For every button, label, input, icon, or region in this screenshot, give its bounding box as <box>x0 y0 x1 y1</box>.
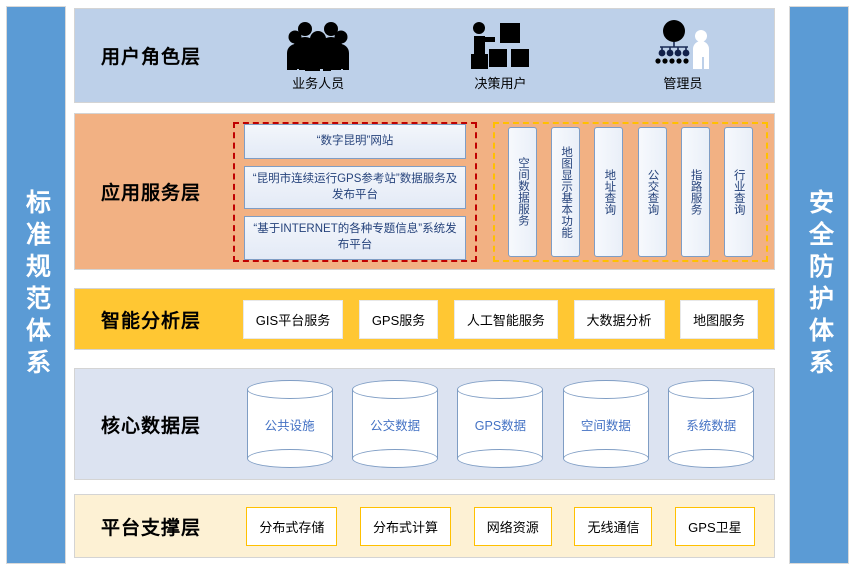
people-group-icon <box>287 19 349 71</box>
org-chart-person-icon <box>652 19 714 71</box>
platform-item[interactable]: 网络资源 <box>474 507 552 546</box>
platform-box[interactable]: “基于INTERNET的各种专题信息”系统发布平台 <box>244 216 466 259</box>
layer-user-role-body: 业务人员 决策用户 <box>227 9 774 102</box>
right-sidebar-security: 安全防护体系 <box>789 6 849 564</box>
platform-item[interactable]: 无线通信 <box>574 507 652 546</box>
layer-app-service-body: “数字昆明”网站 “昆明市连续运行GPS参考站”数据服务及发布平台 “基于INT… <box>227 114 774 269</box>
layer-platform-support-body: 分布式存储 分布式计算 网络资源 无线通信 GPS卫星 <box>227 495 774 557</box>
database-label: 空间数据 <box>563 380 649 468</box>
service-box[interactable]: 地图显示基本功能 <box>551 127 580 257</box>
service-box-label: 行业查询 <box>732 169 745 215</box>
service-box[interactable]: 空间数据服务 <box>508 127 537 257</box>
database-label: GPS数据 <box>457 380 543 468</box>
service-box-label: 指路服务 <box>689 169 702 215</box>
architecture-diagram: 标准规范体系 安全防护体系 用户角色层 <box>0 0 854 570</box>
layer-app-service: 应用服务层 “数字昆明”网站 “昆明市连续运行GPS参考站”数据服务及发布平台 … <box>74 113 775 270</box>
service-box[interactable]: 行业查询 <box>724 127 753 257</box>
service-box[interactable]: 公交查询 <box>638 127 667 257</box>
layer-user-role: 用户角色层 <box>74 8 775 103</box>
database-label: 公共设施 <box>247 380 333 468</box>
service-box[interactable]: 指路服务 <box>681 127 710 257</box>
service-box-label: 公交查询 <box>646 169 659 215</box>
database-label: 公交数据 <box>352 380 438 468</box>
publishing-platform-group: “数字昆明”网站 “昆明市连续运行GPS参考站”数据服务及发布平台 “基于INT… <box>233 122 477 262</box>
left-sidebar-label: 标准规范体系 <box>24 189 49 381</box>
service-function-group: 空间数据服务 地图显示基本功能 地址查询 公交查询 指路服务 行业查询 <box>493 122 768 262</box>
platform-item[interactable]: 分布式存储 <box>246 507 337 546</box>
platform-box[interactable]: “数字昆明”网站 <box>244 124 466 160</box>
database-cylinder[interactable]: GPS数据 <box>457 380 543 468</box>
layer-core-data-title: 核心数据层 <box>75 411 227 438</box>
service-box-label: 地图显示基本功能 <box>559 146 572 238</box>
layer-app-service-title: 应用服务层 <box>75 178 227 205</box>
database-cylinder[interactable]: 公交数据 <box>352 380 438 468</box>
database-cylinder[interactable]: 公共设施 <box>247 380 333 468</box>
service-box-label: 地址查询 <box>602 169 615 215</box>
service-box[interactable]: 地址查询 <box>594 127 623 257</box>
platform-box[interactable]: “昆明市连续运行GPS参考站”数据服务及发布平台 <box>244 166 466 209</box>
layer-analysis-title: 智能分析层 <box>75 306 227 333</box>
role-decision-users[interactable]: 决策用户 <box>409 19 591 92</box>
layer-analysis: 智能分析层 GIS平台服务 GPS服务 人工智能服务 大数据分析 地图服务 <box>74 288 775 350</box>
role-administrator[interactable]: 管理员 <box>592 19 774 92</box>
analysis-item[interactable]: GIS平台服务 <box>243 300 343 339</box>
left-sidebar-standards: 标准规范体系 <box>6 6 66 564</box>
database-label: 系统数据 <box>668 380 754 468</box>
role-label: 管理员 <box>663 73 702 92</box>
analysis-item[interactable]: 大数据分析 <box>574 300 665 339</box>
layer-analysis-body: GIS平台服务 GPS服务 人工智能服务 大数据分析 地图服务 <box>227 289 774 349</box>
layer-core-data: 核心数据层 公共设施 公交数据 <box>74 368 775 480</box>
layer-user-role-title: 用户角色层 <box>75 42 227 69</box>
platform-item[interactable]: GPS卫星 <box>675 507 754 546</box>
analysis-item[interactable]: 地图服务 <box>680 300 758 339</box>
layer-core-data-body: 公共设施 公交数据 GPS数据 空 <box>227 369 774 479</box>
person-with-blocks-icon <box>469 19 531 71</box>
role-business-personnel[interactable]: 业务人员 <box>227 19 409 92</box>
role-label: 业务人员 <box>292 73 344 92</box>
platform-item[interactable]: 分布式计算 <box>360 507 451 546</box>
service-box-label: 空间数据服务 <box>516 157 529 226</box>
role-label: 决策用户 <box>474 73 526 92</box>
analysis-item[interactable]: 人工智能服务 <box>454 300 558 339</box>
analysis-item[interactable]: GPS服务 <box>359 300 438 339</box>
database-cylinder[interactable]: 空间数据 <box>563 380 649 468</box>
database-cylinder[interactable]: 系统数据 <box>668 380 754 468</box>
layer-platform-support-title: 平台支撑层 <box>75 513 227 540</box>
right-sidebar-label: 安全防护体系 <box>807 189 832 381</box>
layer-platform-support: 平台支撑层 分布式存储 分布式计算 网络资源 无线通信 GPS卫星 <box>74 494 775 558</box>
